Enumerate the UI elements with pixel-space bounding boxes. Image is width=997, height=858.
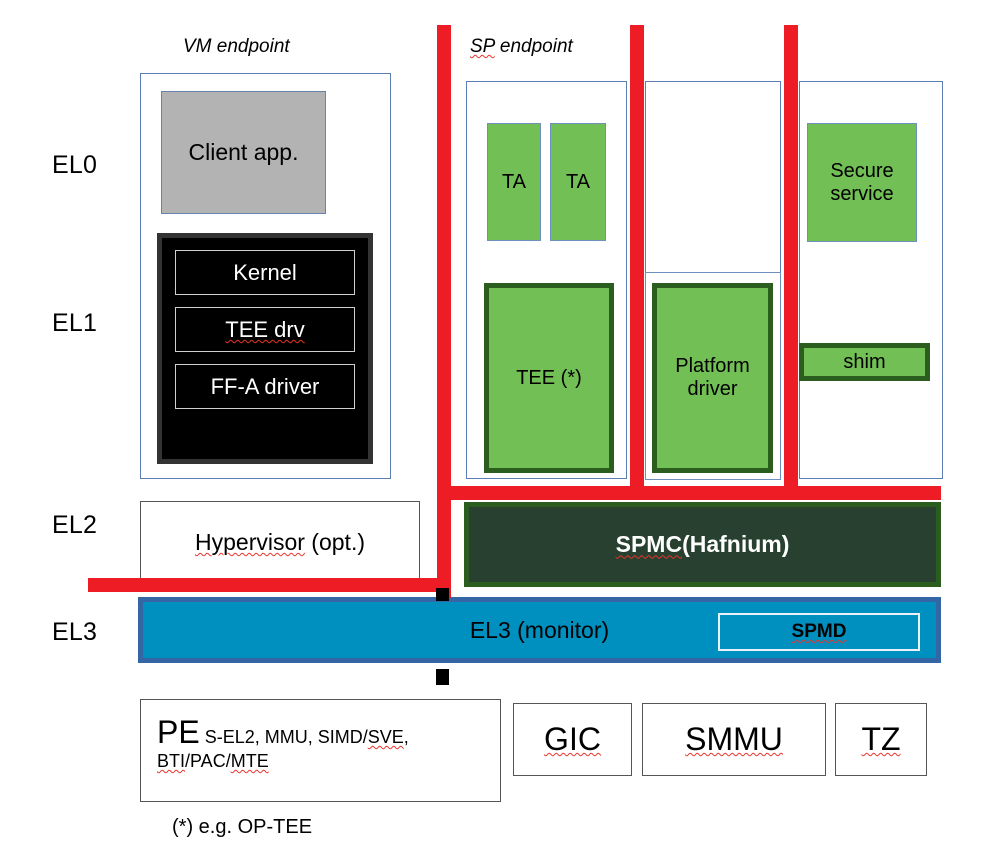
platform-driver-box[interactable]: Platform driver [652, 283, 773, 473]
hypervisor-label-rest: (opt.) [305, 529, 365, 555]
kernel-box[interactable]: Kernel [175, 250, 355, 295]
footnote: (*) e.g. OP-TEE [172, 816, 312, 839]
smmu-label: SMMU [685, 721, 783, 758]
hypervisor-box[interactable]: Hypervisor (opt.) [140, 501, 420, 583]
pe-sub-e: /PAC/ [185, 751, 231, 771]
el-label-el1: EL1 [52, 309, 97, 338]
caption-sp-endpoint-suffix: endpoint [495, 36, 573, 57]
trust-boundary-horizontal-lower [88, 578, 451, 592]
ta-box-1[interactable]: TA [487, 123, 541, 241]
pe-sub-c: , [404, 727, 409, 747]
spmd-label: SPMD [792, 621, 847, 643]
spmd-box[interactable]: SPMD [718, 613, 920, 651]
connector-square-top [436, 588, 449, 601]
trust-boundary-vertical-2 [630, 25, 644, 500]
tz-box[interactable]: TZ [835, 703, 927, 776]
trust-boundary-vertical-3 [784, 25, 798, 500]
diagram-canvas: EL0 EL1 EL2 EL3 VM endpoint SP endpoint … [0, 0, 997, 858]
gic-box[interactable]: GIC [513, 703, 632, 776]
secure-service-box[interactable]: Secure service [807, 123, 917, 242]
el-label-el0: EL0 [52, 151, 97, 180]
caption-sp-endpoint-prefix: SP [470, 36, 495, 57]
kernel-stack-container: Kernel TEE drv FF-A driver [157, 233, 373, 464]
client-app-box[interactable]: Client app. [161, 91, 326, 214]
tz-label: TZ [861, 721, 900, 758]
spmc-label-suffix: (Hafnium) [682, 531, 789, 557]
connector-square-bottom [436, 669, 449, 685]
caption-vm-endpoint: VM endpoint [183, 36, 290, 58]
tee-drv-label: TEE drv [225, 317, 304, 342]
trust-boundary-horizontal-upper [437, 486, 941, 500]
trust-boundary-vertical-1 [437, 25, 451, 598]
el-label-el2: EL2 [52, 511, 97, 540]
smmu-box[interactable]: SMMU [642, 703, 826, 776]
el-label-el3: EL3 [52, 618, 97, 647]
shim-box[interactable]: shim [799, 343, 930, 381]
spmc-label-prefix: SPMC [616, 531, 682, 557]
pe-sub-a: S-EL2, MMU, SIMD/ [205, 727, 368, 747]
spmc-box[interactable]: SPMC (Hafnium) [464, 502, 941, 587]
pe-box[interactable]: PE S-EL2, MMU, SIMD/SVE,BTI/PAC/MTE [140, 699, 501, 802]
tee-drv-box[interactable]: TEE drv [175, 307, 355, 352]
ta-box-2[interactable]: TA [550, 123, 606, 241]
hypervisor-label-underlined: Hypervisor [195, 529, 305, 555]
pe-sub-mte: MTE [231, 751, 269, 771]
pe-title: PE [157, 714, 200, 750]
caption-sp-endpoint: SP endpoint [470, 36, 573, 58]
tee-box[interactable]: TEE (*) [484, 283, 614, 473]
pe-sub-bti: BTI [157, 751, 185, 771]
gic-label: GIC [544, 721, 601, 758]
ff-a-driver-box[interactable]: FF-A driver [175, 364, 355, 409]
pe-sub-sve: SVE [368, 727, 404, 747]
